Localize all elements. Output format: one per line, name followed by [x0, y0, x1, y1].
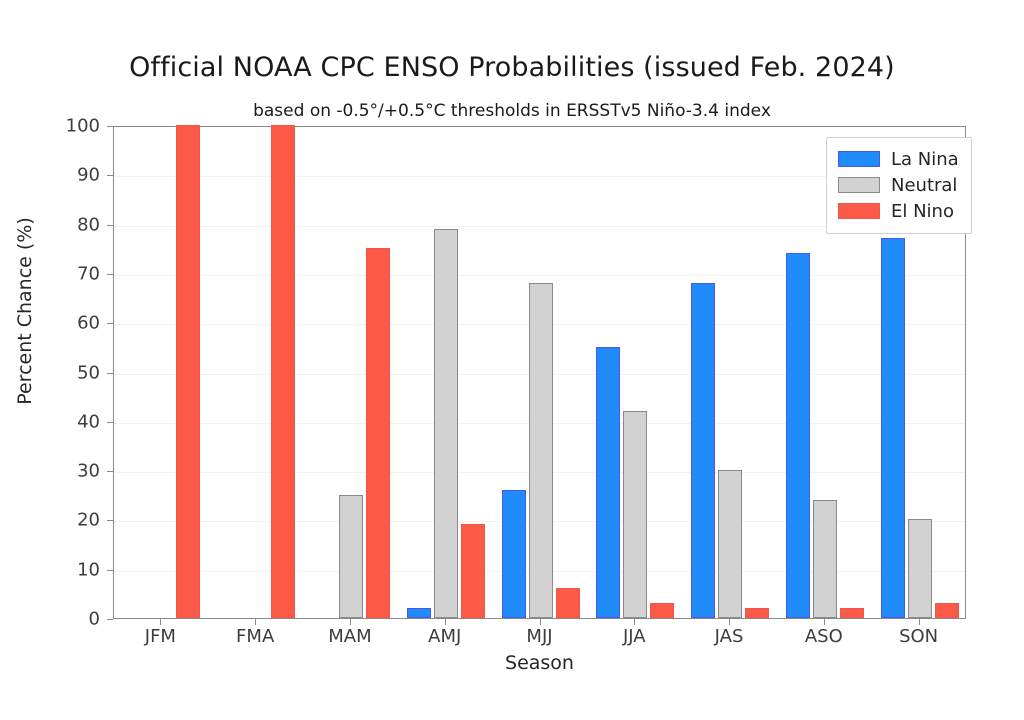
enso-probability-chart-figure: Official NOAA CPC ENSO Probabilities (is… [0, 0, 1024, 720]
x-tick-mark [824, 619, 825, 625]
y-tick-label: 10 [54, 559, 100, 580]
y-tick-mark [107, 619, 113, 620]
bar-mam-neutral [339, 495, 363, 618]
bar-jas-lanina [691, 283, 715, 618]
bar-fma-elnino [271, 125, 295, 618]
bar-son-elnino [935, 603, 959, 618]
bar-jja-elnino [650, 603, 674, 618]
legend-item-elnino[interactable]: El Nino [838, 198, 959, 224]
y-tick-label: 80 [54, 214, 100, 235]
x-tick-mark [350, 619, 351, 625]
y-axis-label: Percent Chance (%) [14, 101, 36, 521]
x-tick-mark [540, 619, 541, 625]
bar-mjj-lanina [502, 490, 526, 618]
x-tick-mark [634, 619, 635, 625]
y-tick-label: 90 [54, 165, 100, 186]
y-tick-label: 70 [54, 263, 100, 284]
bar-mam-elnino [366, 248, 390, 618]
legend: La NinaNeutralEl Nino [826, 137, 972, 234]
gridline [114, 275, 965, 276]
x-tick-label: JJA [623, 626, 646, 647]
bar-son-lanina [881, 238, 905, 618]
bar-jja-lanina [596, 347, 620, 618]
x-tick-label: FMA [236, 626, 274, 647]
legend-label: El Nino [891, 201, 954, 222]
x-tick-mark [729, 619, 730, 625]
x-tick-label: AMJ [428, 626, 461, 647]
chart-subtitle: based on -0.5°/+0.5°C thresholds in ERSS… [0, 101, 1024, 121]
legend-label: Neutral [891, 175, 957, 196]
y-tick-label: 40 [54, 411, 100, 432]
bar-aso-elnino [840, 608, 864, 618]
bar-amj-lanina [407, 608, 431, 618]
y-tick-label: 30 [54, 461, 100, 482]
bar-amj-neutral [434, 229, 458, 618]
x-tick-mark [445, 619, 446, 625]
x-tick-mark [255, 619, 256, 625]
bar-jas-neutral [718, 470, 742, 618]
x-tick-label: MJJ [526, 626, 552, 647]
bar-jfm-elnino [176, 125, 200, 618]
x-tick-label: JAS [715, 626, 744, 647]
x-tick-mark [919, 619, 920, 625]
y-tick-label: 60 [54, 313, 100, 334]
bar-aso-neutral [813, 500, 837, 618]
legend-item-neutral[interactable]: Neutral [838, 172, 959, 198]
chart-title: Official NOAA CPC ENSO Probabilities (is… [0, 52, 1024, 83]
legend-label: La Nina [891, 149, 959, 170]
bar-aso-lanina [786, 253, 810, 618]
y-tick-label: 0 [54, 609, 100, 630]
bar-mjj-neutral [529, 283, 553, 618]
bar-mjj-elnino [556, 588, 580, 618]
x-axis-label: Season [113, 652, 966, 674]
y-tick-label: 50 [54, 362, 100, 383]
x-tick-label: SON [899, 626, 938, 647]
bar-amj-elnino [461, 524, 485, 618]
bar-son-neutral [908, 519, 932, 618]
bar-jas-elnino [745, 608, 769, 618]
x-tick-label: ASO [805, 626, 843, 647]
x-tick-label: MAM [328, 626, 371, 647]
legend-item-lanina[interactable]: La Nina [838, 146, 959, 172]
x-tick-label: JFM [145, 626, 176, 647]
y-tick-label: 100 [54, 116, 100, 137]
legend-swatch-neutral [838, 177, 880, 193]
bar-jja-neutral [623, 411, 647, 618]
legend-swatch-lanina [838, 151, 880, 167]
x-tick-mark [160, 619, 161, 625]
y-tick-label: 20 [54, 510, 100, 531]
legend-swatch-elnino [838, 203, 880, 219]
